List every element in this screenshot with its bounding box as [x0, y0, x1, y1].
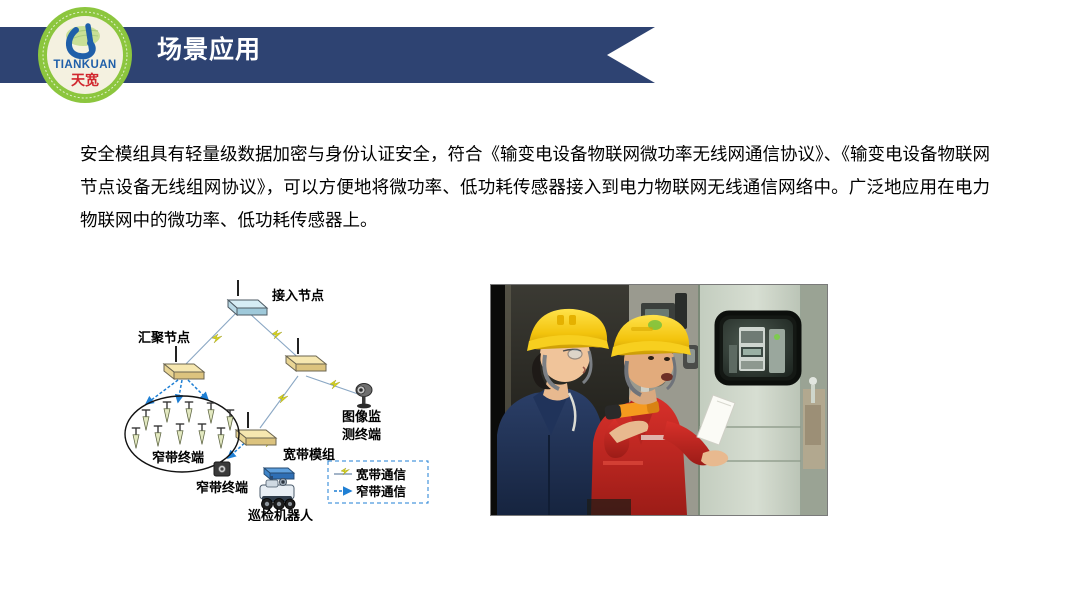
paragraph-text: 安全模组具有轻量级数据加密与身份认证安全，符合《输变电设备物联网微功率无线网通信… — [80, 138, 990, 237]
slide-root: 场景应用 TIANKUAN 天宽 安全模组具有轻量级数据 — [0, 0, 1074, 605]
legend-label-narrowband: 窄带通信 — [356, 484, 407, 499]
lightning-markers — [212, 330, 340, 447]
image-terminal-label-line2: 测终端 — [342, 427, 381, 442]
converge-node-bottom-icon — [236, 412, 276, 445]
broadband-module-icon — [264, 468, 294, 479]
broadband-module-label: 宽带模组 — [282, 447, 335, 462]
image-terminal-label-line1: 图像监 — [342, 409, 381, 424]
diagram-legend: 宽带通信 窄带通信 — [328, 461, 428, 503]
narrowband-terminal-icon — [214, 462, 230, 476]
access-node-icon — [228, 280, 267, 315]
sensor-cluster-icons — [132, 402, 235, 448]
legend-label-broadband: 宽带通信 — [355, 467, 407, 482]
narrowband-terminal-label: 窄带终端 — [196, 480, 248, 495]
converge-node-label: 汇聚节点 — [138, 330, 190, 345]
substation-inspection-photo — [490, 284, 828, 516]
inspection-robot-icon — [260, 476, 295, 510]
page-title: 场景应用 — [157, 38, 261, 63]
logo-latin-text: TIANKUAN — [53, 59, 116, 71]
converge-node-mid-icon — [286, 338, 326, 371]
body-paragraph: 安全模组具有轻量级数据加密与身份认证安全，符合《输变电设备物联网微功率无线网通信… — [80, 138, 990, 237]
inspection-robot-label: 巡检机器人 — [248, 508, 314, 521]
access-node-label: 接入节点 — [272, 288, 324, 303]
network-topology-diagram: 接入节点 汇聚节点 — [120, 276, 445, 521]
narrowband-cluster-label: 窄带终端 — [152, 450, 204, 465]
tiankuan-logo: TIANKUAN 天宽 — [36, 6, 134, 104]
logo-chinese-text: 天宽 — [71, 72, 99, 88]
image-terminal-icon — [356, 384, 372, 409]
